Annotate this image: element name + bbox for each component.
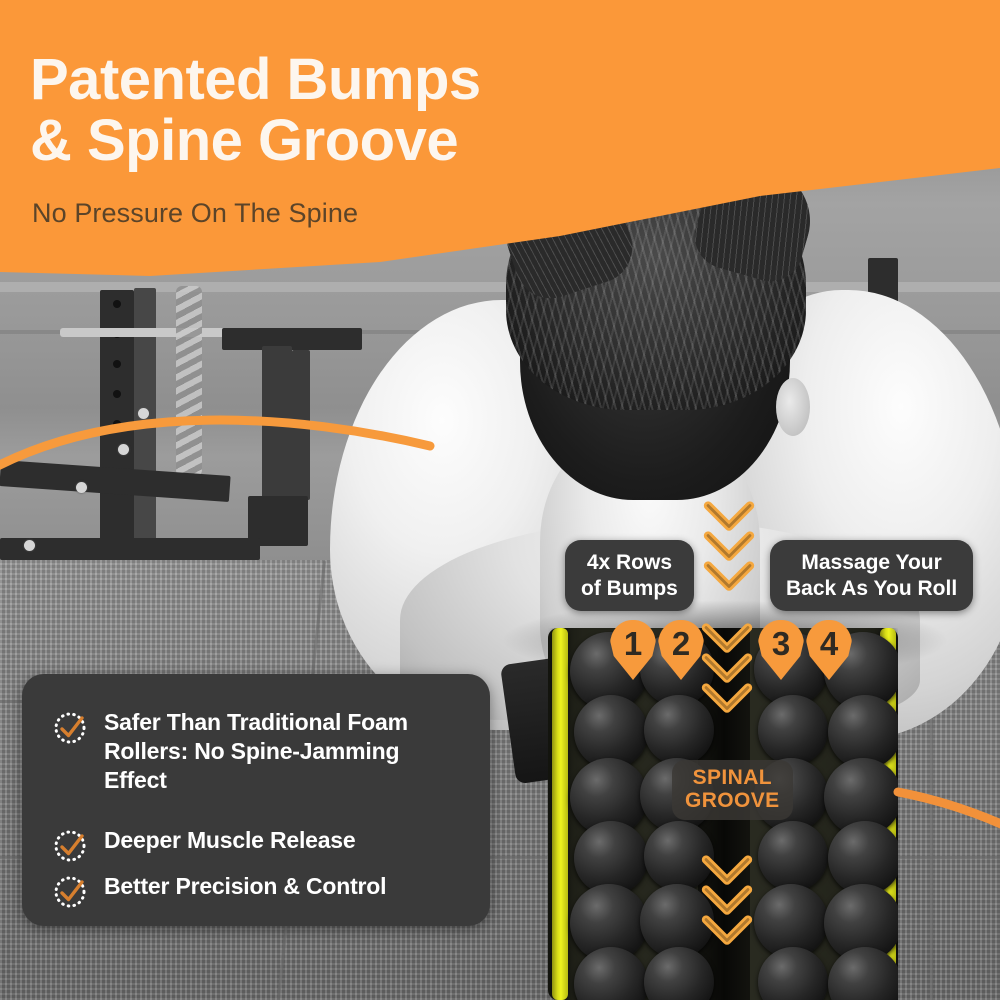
feature-item-1-label: Safer Than Traditional Foam Rollers: No … <box>104 708 464 795</box>
check-circle-icon <box>52 874 88 910</box>
callout-massage-back[interactable]: Massage Your Back As You Roll <box>770 540 973 611</box>
check-circle-icon <box>52 828 88 864</box>
row-marker-3-label: 3 <box>772 627 790 660</box>
row-marker-2-label: 2 <box>672 627 690 660</box>
chevron-down-icon <box>698 912 756 950</box>
title-line-1: Patented Bumps <box>30 47 481 112</box>
bump <box>758 695 828 765</box>
chevron-down-icon <box>698 680 756 718</box>
spinal-groove-label: SPINAL GROOVE <box>672 760 793 820</box>
chevron-down-icon <box>700 558 758 596</box>
callout-rows-line-2: of Bumps <box>581 576 678 602</box>
feature-item-2: Deeper Muscle Release <box>52 826 464 864</box>
feature-item-3-label: Better Precision & Control <box>104 872 386 901</box>
feature-list-card: Safer Than Traditional Foam Rollers: No … <box>22 674 490 926</box>
check-circle-icon <box>52 710 88 746</box>
page-title: Patented Bumps & Spine Groove <box>30 50 670 172</box>
feature-item-2-label: Deeper Muscle Release <box>104 826 356 855</box>
spinal-groove-line-2: GROOVE <box>685 789 780 812</box>
row-marker-1-label: 1 <box>624 627 642 660</box>
title-line-2: & Spine Groove <box>30 111 670 172</box>
wheel-rail-left <box>552 628 568 1000</box>
callout-massage-line-2: Back As You Roll <box>786 576 957 602</box>
callout-massage-line-1: Massage Your <box>786 550 957 576</box>
feature-item-1: Safer Than Traditional Foam Rollers: No … <box>52 708 464 795</box>
callout-rows-line-1: 4x Rows <box>581 550 678 576</box>
row-marker-4-label: 4 <box>820 627 838 660</box>
bump <box>758 821 828 891</box>
spinal-groove-line-1: SPINAL <box>685 766 780 789</box>
upper-groove-chevrons <box>698 620 756 718</box>
lower-groove-chevrons <box>698 852 756 950</box>
neck-chevrons <box>700 498 758 596</box>
page-subtitle: No Pressure On The Spine <box>32 198 358 229</box>
header-banner: Patented Bumps & Spine Groove No Pressur… <box>0 0 1000 300</box>
infographic-root: Patented Bumps & Spine Groove No Pressur… <box>0 0 1000 1000</box>
feature-item-3: Better Precision & Control <box>52 872 464 910</box>
callout-rows-of-bumps[interactable]: 4x Rows of Bumps <box>565 540 694 611</box>
ear-right <box>776 378 810 436</box>
